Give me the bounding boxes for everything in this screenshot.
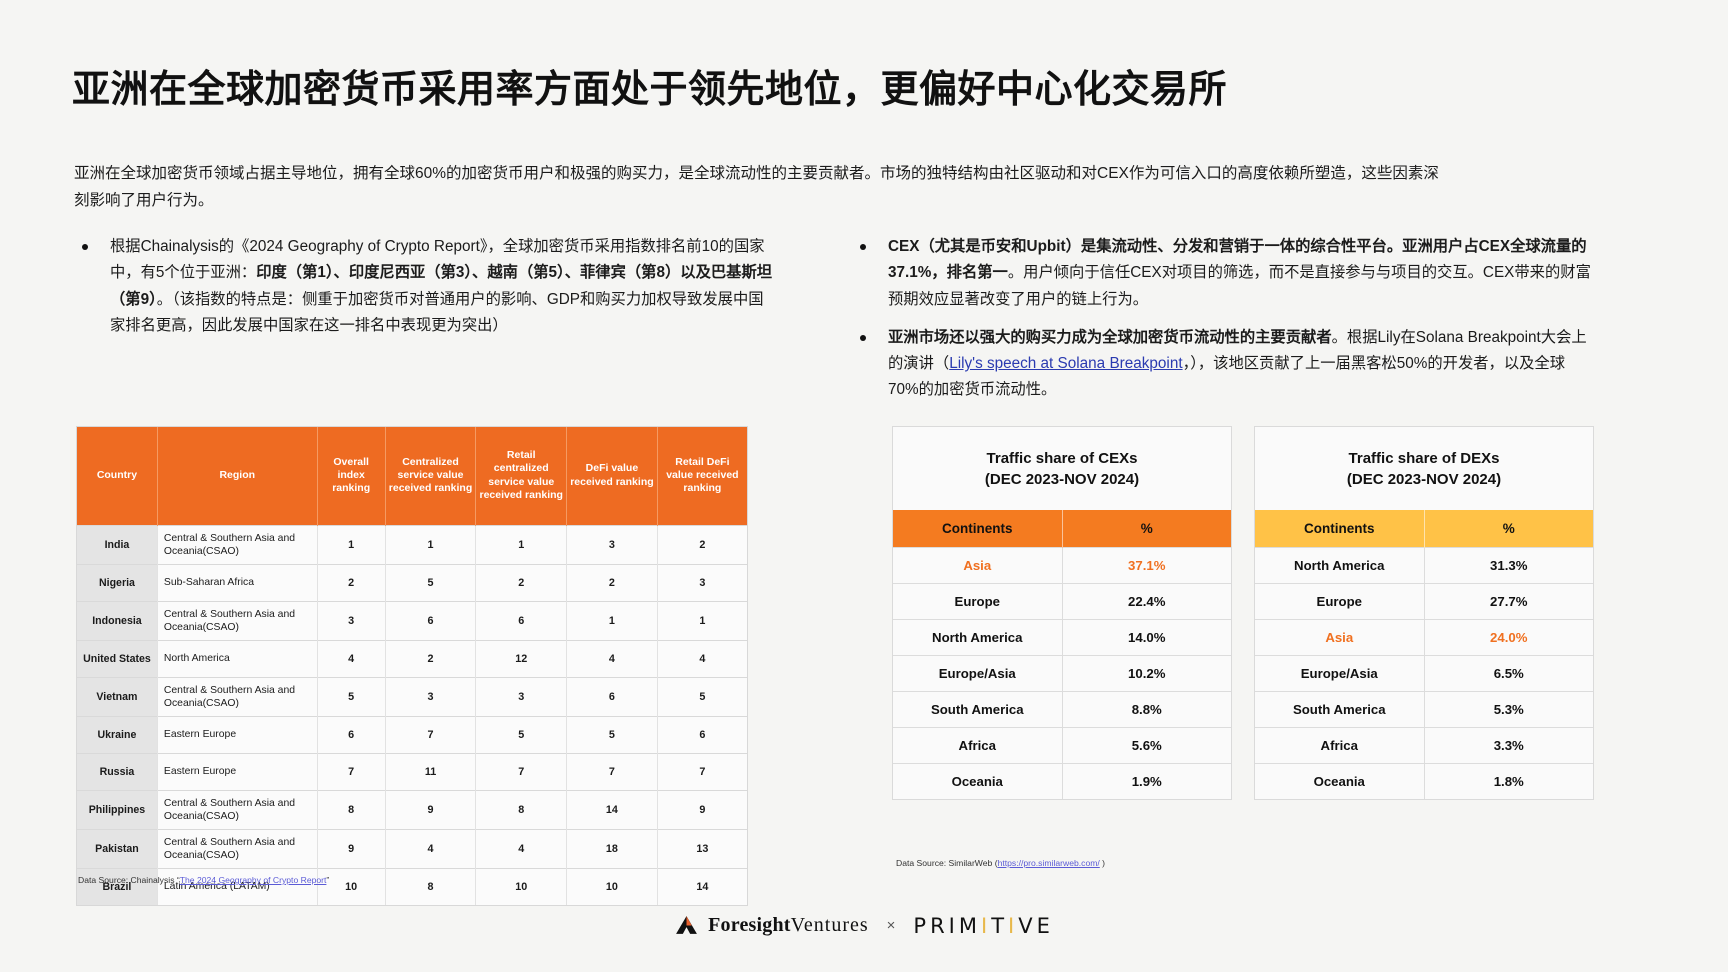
cell-rank: 5: [567, 716, 658, 753]
dex-table-title: Traffic share of DEXs (DEC 2023-NOV 2024…: [1255, 427, 1593, 510]
cell-region: Central & Southern Asia and Oceania(CSAO…: [157, 829, 317, 868]
dex-cell-percent: 27.7%: [1424, 584, 1593, 620]
column-header-retail-defi: Retail DeFi value received ranking: [657, 427, 747, 525]
cell-rank: 18: [567, 829, 658, 868]
dex-cell-percent: 31.3%: [1424, 548, 1593, 584]
cex-cell-percent: 10.2%: [1062, 656, 1231, 692]
list-item: CEX（尤其是币安和Upbit）是集流动性、分发和营销于一体的综合性平台。亚洲用…: [852, 234, 1592, 313]
dex-title-line1: Traffic share of DEXs: [1349, 450, 1500, 467]
cell-rank: 13: [657, 829, 747, 868]
cex-cell-percent: 8.8%: [1062, 692, 1231, 728]
cell-rank: 6: [317, 716, 385, 753]
cex-header-row: Continents %: [893, 510, 1231, 548]
cell-rank: 2: [317, 564, 385, 601]
page-title: 亚洲在全球加密货币采用率方面处于领先地位，更偏好中心化交易所: [72, 58, 1227, 113]
cell-rank: 5: [657, 677, 747, 716]
cell-rank: 1: [657, 601, 747, 640]
cex-cell-percent: 22.4%: [1062, 584, 1231, 620]
cex-cell-continent: Oceania: [893, 764, 1062, 800]
cell-rank: 1: [476, 525, 567, 564]
share-tables-source: Data Source: SimilarWeb (https://pro.sim…: [896, 858, 1105, 868]
cex-cell-continent: Europe: [893, 584, 1062, 620]
table-row: North America14.0%: [893, 620, 1231, 656]
table-row: Europe/Asia10.2%: [893, 656, 1231, 692]
source-suffix: ”: [326, 875, 329, 885]
table-row: Europe22.4%: [893, 584, 1231, 620]
table-row: South America8.8%: [893, 692, 1231, 728]
table-row: UkraineEastern Europe67556: [77, 716, 747, 753]
dex-cell-percent: 6.5%: [1424, 656, 1593, 692]
cell-country: Brazil: [77, 868, 157, 905]
cell-rank: 1: [317, 525, 385, 564]
cell-rank: 5: [385, 564, 476, 601]
list-item: 根据Chainalysis的《2024 Geography of Crypto …: [74, 234, 774, 339]
cex-cell-continent: Europe/Asia: [893, 656, 1062, 692]
cell-rank: 5: [476, 716, 567, 753]
cex-traffic-share-table: Traffic share of CEXs (DEC 2023-NOV 2024…: [892, 426, 1232, 800]
cell-region: Sub-Saharan Africa: [157, 564, 317, 601]
dex-cell-continent: Africa: [1255, 728, 1424, 764]
dex-cell-continent: Asia: [1255, 620, 1424, 656]
cell-rank: 8: [317, 790, 385, 829]
cell-rank: 7: [476, 753, 567, 790]
cell-rank: 7: [385, 716, 476, 753]
table-header-row: Country Region Overall index ranking Cen…: [77, 427, 747, 525]
cell-rank: 8: [385, 868, 476, 905]
cell-rank: 3: [385, 677, 476, 716]
logo-separator: ×: [887, 917, 896, 934]
cell-country: Russia: [77, 753, 157, 790]
right-bullet-column: CEX（尤其是币安和Upbit）是集流动性、分发和营销于一体的综合性平台。亚洲用…: [852, 234, 1592, 416]
table-row: Europe/Asia6.5%: [1255, 656, 1593, 692]
dex-table-body: North America31.3%Europe27.7%Asia24.0%Eu…: [1255, 548, 1593, 800]
table-row: United StatesNorth America421244: [77, 640, 747, 677]
cell-rank: 10: [476, 868, 567, 905]
cex-table-body: Asia37.1%Europe22.4%North America14.0%Eu…: [893, 548, 1231, 800]
cell-rank: 3: [567, 525, 658, 564]
cell-rank: 14: [657, 868, 747, 905]
cell-rank: 1: [385, 525, 476, 564]
column-header-retail-centralized: Retail centralized service value receive…: [476, 427, 567, 525]
dex-header-row: Continents %: [1255, 510, 1593, 548]
ranking-table-source: Data Source: Chainalysis “The 2024 Geogr…: [78, 875, 329, 885]
source-prefix: Data Source: Chainalysis “: [78, 875, 180, 885]
cell-region: Central & Southern Asia and Oceania(CSAO…: [157, 525, 317, 564]
solana-breakpoint-link[interactable]: Lily's speech at Solana Breakpoint: [949, 355, 1182, 372]
foresight-wordmark: ForesightVentures: [708, 914, 869, 937]
footer-logos: ForesightVentures × PRIMITIVE: [0, 913, 1728, 938]
cell-rank: 9: [385, 790, 476, 829]
cell-rank: 2: [476, 564, 567, 601]
dex-column-header-continents: Continents: [1255, 510, 1424, 548]
cell-rank: 6: [657, 716, 747, 753]
dex-cell-continent: Oceania: [1255, 764, 1424, 800]
cell-country: United States: [77, 640, 157, 677]
table-row: South America5.3%: [1255, 692, 1593, 728]
cell-country: Indonesia: [77, 601, 157, 640]
dex-cell-continent: Europe/Asia: [1255, 656, 1424, 692]
cell-region: North America: [157, 640, 317, 677]
cex-cell-percent: 37.1%: [1062, 548, 1231, 584]
slide-root: 亚洲在全球加密货币采用率方面处于领先地位，更偏好中心化交易所 亚洲在全球加密货币…: [0, 0, 1728, 972]
cell-region: Central & Southern Asia and Oceania(CSAO…: [157, 790, 317, 829]
source-suffix: ): [1100, 858, 1105, 868]
dex-cell-continent: South America: [1255, 692, 1424, 728]
cex-cell-continent: North America: [893, 620, 1062, 656]
table-row: Asia37.1%: [893, 548, 1231, 584]
cex-cell-percent: 14.0%: [1062, 620, 1231, 656]
table-row: Oceania1.9%: [893, 764, 1231, 800]
cell-rank: 3: [657, 564, 747, 601]
primitive-logo: PRIMITIVE: [913, 914, 1053, 938]
cell-country: Pakistan: [77, 829, 157, 868]
bullet-text-part2: 。（该指数的特点是：侧重于加密货币对普通用户的影响、GDP和购买力加权导致发展中…: [110, 291, 764, 334]
table-row: IndonesiaCentral & Southern Asia and Oce…: [77, 601, 747, 640]
cell-region: Eastern Europe: [157, 753, 317, 790]
dex-cell-percent: 3.3%: [1424, 728, 1593, 764]
cell-rank: 4: [657, 640, 747, 677]
cell-rank: 3: [317, 601, 385, 640]
cex-cell-continent: South America: [893, 692, 1062, 728]
table-row: PakistanCentral & Southern Asia and Ocea…: [77, 829, 747, 868]
cell-rank: 11: [385, 753, 476, 790]
cell-region: Central & Southern Asia and Oceania(CSAO…: [157, 677, 317, 716]
cell-rank: 6: [385, 601, 476, 640]
right-bullet-list: CEX（尤其是币安和Upbit）是集流动性、分发和营销于一体的综合性平台。亚洲用…: [852, 234, 1592, 404]
cell-region: Eastern Europe: [157, 716, 317, 753]
cell-rank: 3: [476, 677, 567, 716]
cex-title-line1: Traffic share of CEXs: [987, 450, 1138, 467]
cell-rank: 1: [567, 601, 658, 640]
cell-country: Philippines: [77, 790, 157, 829]
dex-cell-percent: 1.8%: [1424, 764, 1593, 800]
column-header-region: Region: [157, 427, 317, 525]
cell-rank: 6: [476, 601, 567, 640]
dex-cell-continent: Europe: [1255, 584, 1424, 620]
cell-rank: 4: [567, 640, 658, 677]
cell-rank: 2: [567, 564, 658, 601]
cell-rank: 7: [567, 753, 658, 790]
source-prefix: Data Source: SimilarWeb (: [896, 858, 998, 868]
cex-cell-percent: 5.6%: [1062, 728, 1231, 764]
table-row: Africa3.3%: [1255, 728, 1593, 764]
column-header-centralized-service: Centralized service value received ranki…: [385, 427, 476, 525]
cell-rank: 2: [385, 640, 476, 677]
table-body: IndiaCentral & Southern Asia and Oceania…: [77, 525, 747, 905]
cell-country: Ukraine: [77, 716, 157, 753]
cex-cell-percent: 1.9%: [1062, 764, 1231, 800]
dex-title-line2: (DEC 2023-NOV 2024): [1265, 470, 1583, 491]
cell-rank: 14: [567, 790, 658, 829]
cell-rank: 9: [317, 829, 385, 868]
cex-column-header-percent: %: [1062, 510, 1231, 548]
table-row: Asia24.0%: [1255, 620, 1593, 656]
bullet-text-bold: 亚洲市场还以强大的购买力成为全球加密货币流动性的主要贡献者: [888, 329, 1332, 346]
cell-rank: 4: [385, 829, 476, 868]
cex-cell-continent: Asia: [893, 548, 1062, 584]
table-row: Africa5.6%: [893, 728, 1231, 764]
primitive-wordmark: PRIMITIVE: [913, 914, 1053, 938]
table-row: VietnamCentral & Southern Asia and Ocean…: [77, 677, 747, 716]
cell-rank: 6: [567, 677, 658, 716]
cell-rank: 2: [657, 525, 747, 564]
column-header-defi-value: DeFi value received ranking: [567, 427, 658, 525]
cex-cell-continent: Africa: [893, 728, 1062, 764]
table-row: NigeriaSub-Saharan Africa25223: [77, 564, 747, 601]
cell-rank: 7: [317, 753, 385, 790]
cell-rank: 12: [476, 640, 567, 677]
cell-rank: 8: [476, 790, 567, 829]
cell-rank: 5: [317, 677, 385, 716]
dex-cell-percent: 24.0%: [1424, 620, 1593, 656]
dex-cell-percent: 5.3%: [1424, 692, 1593, 728]
cex-table-title: Traffic share of CEXs (DEC 2023-NOV 2024…: [893, 427, 1231, 510]
cell-region: Latin America (LATAM): [157, 868, 317, 905]
foresight-mark-icon: [674, 913, 699, 938]
foresight-ventures-logo: ForesightVentures: [674, 913, 869, 938]
table-row: Oceania1.8%: [1255, 764, 1593, 800]
intro-paragraph: 亚洲在全球加密货币领域占据主导地位，拥有全球60%的加密货币用户和极强的购买力，…: [74, 160, 1452, 214]
cell-rank: 4: [317, 640, 385, 677]
list-item: 亚洲市场还以强大的购买力成为全球加密货币流动性的主要贡献者。根据Lily在Sol…: [852, 325, 1592, 404]
dex-traffic-share-table: Traffic share of DEXs (DEC 2023-NOV 2024…: [1254, 426, 1594, 800]
chainalysis-report-link[interactable]: The 2024 Geography of Crypto Report: [180, 875, 327, 885]
cex-title-line2: (DEC 2023-NOV 2024): [903, 470, 1221, 491]
brand-foresight: Foresight: [708, 914, 791, 936]
cex-column-header-continents: Continents: [893, 510, 1062, 548]
table-row: North America31.3%: [1255, 548, 1593, 584]
table-row: BrazilLatin America (LATAM)108101014: [77, 868, 747, 905]
table-row: RussiaEastern Europe711777: [77, 753, 747, 790]
cell-rank: 10: [567, 868, 658, 905]
brand-ventures: Ventures: [791, 914, 869, 936]
cell-rank: 7: [657, 753, 747, 790]
dex-cell-continent: North America: [1255, 548, 1424, 584]
cell-country: India: [77, 525, 157, 564]
left-bullet-list: 根据Chainalysis的《2024 Geography of Crypto …: [74, 234, 774, 339]
table-row: Europe27.7%: [1255, 584, 1593, 620]
cell-rank: 9: [657, 790, 747, 829]
cell-rank: 10: [317, 868, 385, 905]
crypto-adoption-ranking-table: Country Region Overall index ranking Cen…: [76, 426, 748, 906]
dex-column-header-percent: %: [1424, 510, 1593, 548]
left-bullet-column: 根据Chainalysis的《2024 Geography of Crypto …: [74, 234, 774, 351]
cell-region: Central & Southern Asia and Oceania(CSAO…: [157, 601, 317, 640]
column-header-overall-index: Overall index ranking: [317, 427, 385, 525]
column-header-country: Country: [77, 427, 157, 525]
table-row: PhilippinesCentral & Southern Asia and O…: [77, 790, 747, 829]
similarweb-link[interactable]: https://pro.similarweb.com/: [998, 858, 1100, 868]
cell-country: Vietnam: [77, 677, 157, 716]
cell-rank: 4: [476, 829, 567, 868]
table-row: IndiaCentral & Southern Asia and Oceania…: [77, 525, 747, 564]
cell-country: Nigeria: [77, 564, 157, 601]
